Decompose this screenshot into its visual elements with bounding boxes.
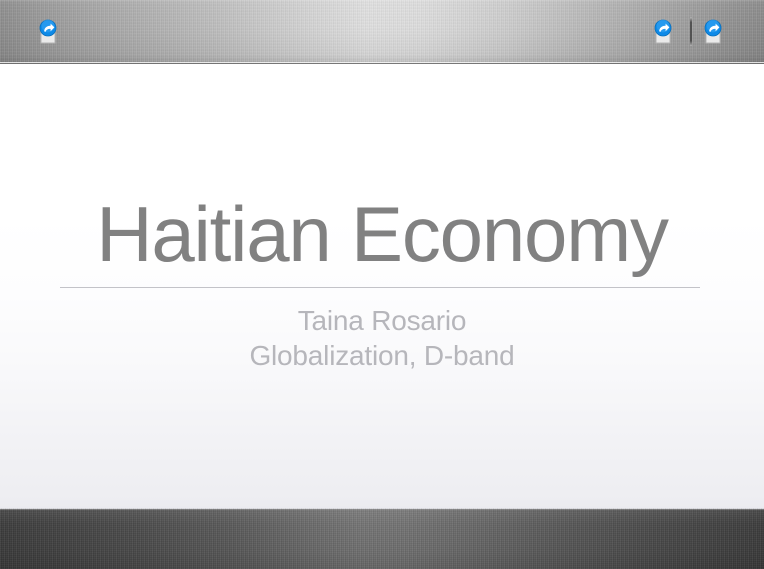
bottombar-texture (0, 508, 764, 569)
bottom-toolbar (0, 508, 764, 569)
subtitle-line-course: Globalization, D-band (0, 338, 764, 373)
slide-content: Haitian Economy Taina Rosario Globalizat… (0, 64, 764, 508)
subtitle-line-author: Taina Rosario (0, 303, 764, 338)
top-toolbar (0, 0, 764, 64)
title-divider-rule (60, 287, 700, 288)
slide-title: Haitian Economy (0, 190, 764, 278)
slide-subtitle: Taina Rosario Globalization, D-band (0, 303, 764, 373)
share-arrow-icon[interactable] (700, 17, 726, 47)
share-arrow-icon[interactable] (650, 17, 676, 47)
share-arrow-icon[interactable] (35, 17, 61, 47)
toolbar-divider (690, 17, 692, 46)
presentation-window: Haitian Economy Taina Rosario Globalizat… (0, 0, 764, 569)
slide-canvas[interactable]: Haitian Economy Taina Rosario Globalizat… (0, 64, 764, 508)
